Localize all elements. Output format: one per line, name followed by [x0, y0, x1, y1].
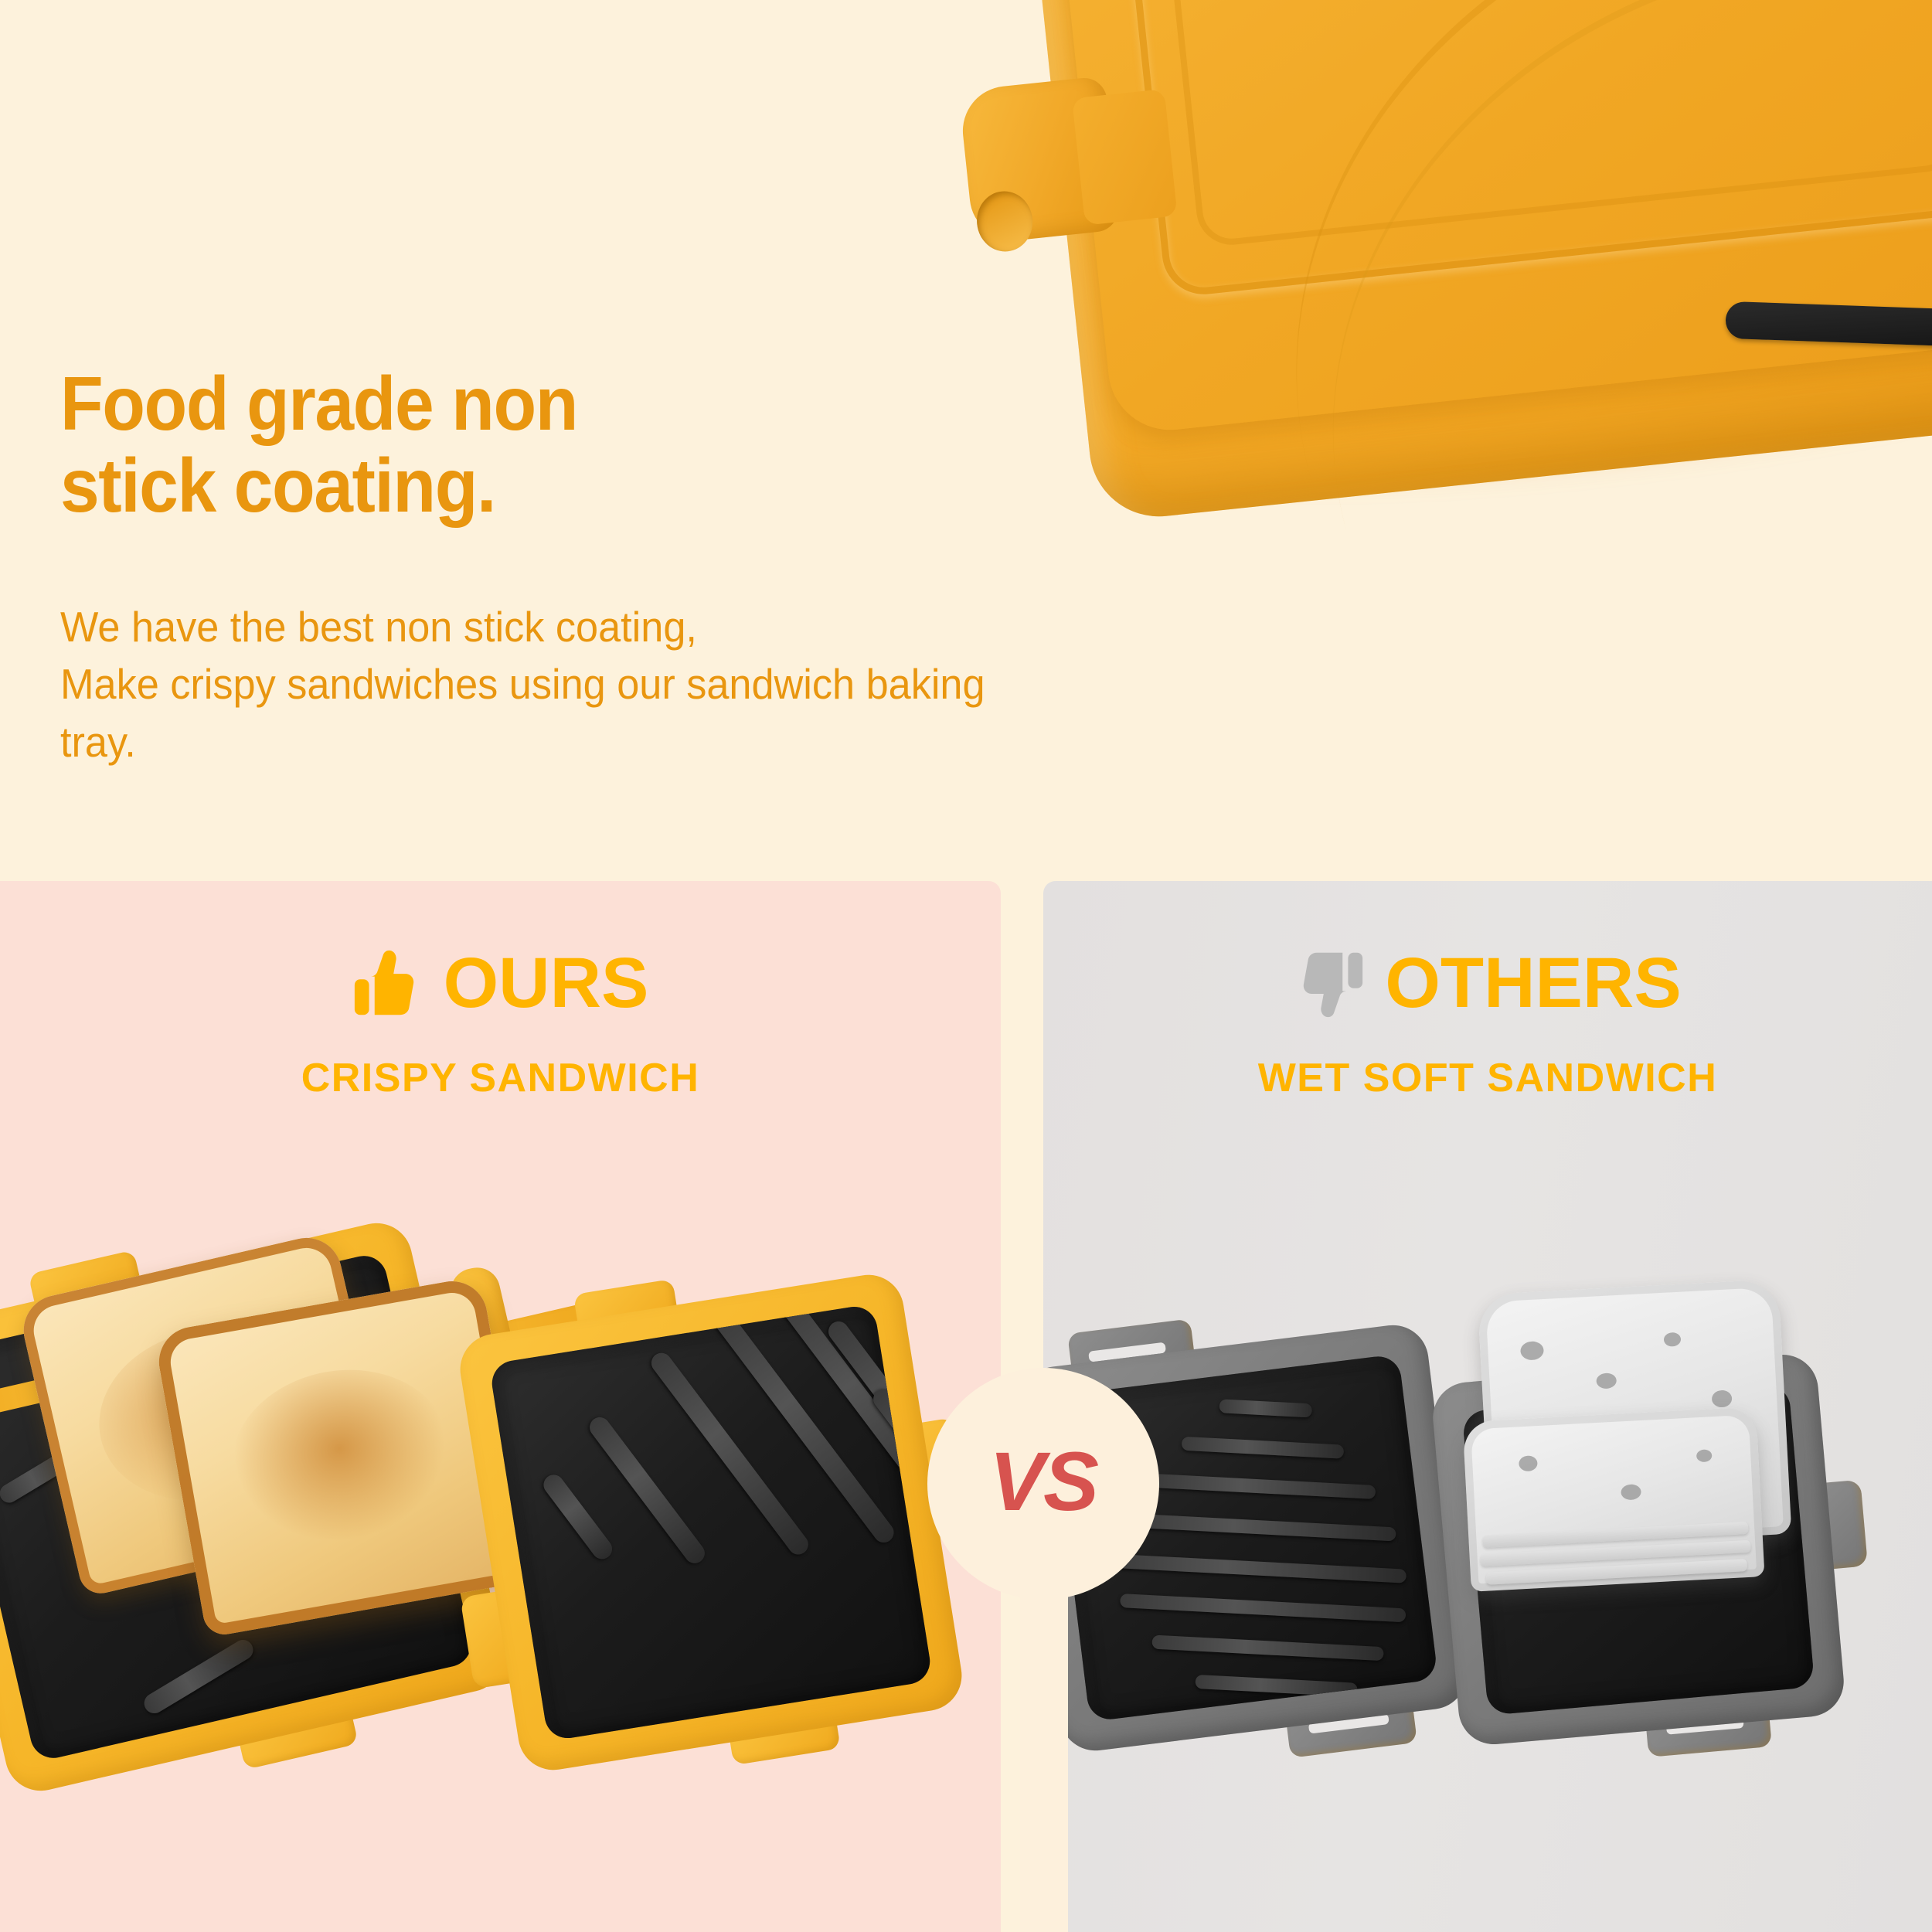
plate-ridge	[1151, 1634, 1384, 1661]
ours-title: OURS	[444, 943, 649, 1024]
vs-badge: VS	[927, 1368, 1159, 1600]
plate-ridge	[1182, 1437, 1345, 1459]
bread-hole	[1519, 1455, 1538, 1471]
bread-hole	[1621, 1484, 1641, 1500]
hero-copy-block: Food grade non stick coating. We have th…	[60, 363, 1080, 771]
bread-hole	[1696, 1449, 1713, 1462]
panel-ours: OURS CRISPY SANDWICH	[0, 881, 1001, 1932]
others-header: OTHERS	[1043, 943, 1932, 1024]
thumbs-down-icon	[1294, 948, 1365, 1019]
page-title: Food grade non stick coating.	[60, 363, 1009, 527]
others-title: OTHERS	[1385, 943, 1681, 1024]
panel-others: OTHERS WET SOFT SANDWICH	[1043, 881, 1932, 1932]
bread-hole	[1520, 1341, 1544, 1361]
thumbs-up-icon	[352, 948, 423, 1019]
toast-char-mark	[218, 1353, 464, 1562]
plate-ridge	[1120, 1594, 1406, 1622]
ours-subtitle: CRISPY SANDWICH	[0, 1055, 1001, 1101]
bread-hole	[1596, 1372, 1617, 1389]
plate-ridge	[1105, 1553, 1406, 1583]
others-subtitle: WET SOFT SANDWICH	[1043, 1055, 1932, 1101]
hero-section: Food grade non stick coating. We have th…	[0, 0, 1932, 881]
plate-ridge	[1125, 1513, 1396, 1541]
soft-bread-front-slice	[1463, 1406, 1765, 1592]
plate-ridge	[1219, 1399, 1312, 1417]
plate-ridge	[539, 1471, 616, 1563]
plate-ridge	[1151, 1474, 1376, 1499]
device-latch-neck	[1072, 89, 1178, 226]
bread-hole	[1664, 1332, 1682, 1347]
tray-plate	[488, 1304, 933, 1742]
ours-grill-plate	[455, 1270, 967, 1775]
plate-ridge	[141, 1636, 257, 1717]
comparison-section: OURS CRISPY SANDWICH	[0, 881, 1932, 1932]
vs-label: VS	[989, 1433, 1097, 1529]
hero-description: We have the best non stick coating, Make…	[60, 598, 1029, 771]
ours-header: OURS	[0, 943, 1001, 1024]
bread-hole	[1712, 1389, 1733, 1407]
